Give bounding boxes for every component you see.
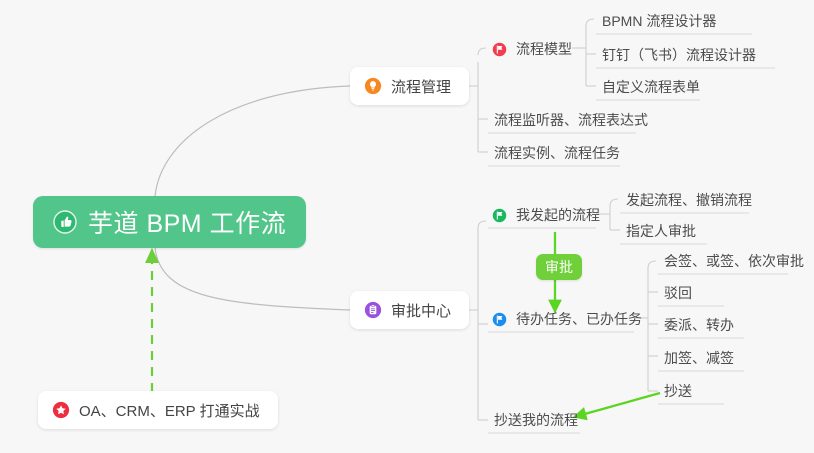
link-mine-top: [610, 199, 618, 206]
node-todo-done-task[interactable]: 待办任务、已办任务: [490, 304, 648, 334]
node-label: 流程实例、流程任务: [494, 143, 620, 163]
node-start-cancel-flow[interactable]: 发起流程、撤销流程: [624, 185, 758, 215]
node-my-cc-flow[interactable]: 抄送我的流程: [492, 405, 584, 435]
star-icon: [52, 401, 70, 419]
node-countersign[interactable]: 会签、或签、依次审批: [662, 246, 810, 276]
link-root-process-management: [155, 86, 350, 197]
branch-process-management[interactable]: 流程管理: [350, 67, 469, 105]
link-pm-to-model: [478, 48, 486, 55]
node-listener-expression[interactable]: 流程监听器、流程表达式: [492, 105, 654, 135]
branch-label: 审批中心: [391, 300, 451, 321]
flag-icon: [492, 312, 507, 327]
node-label: 指定人审批: [626, 221, 696, 241]
node-cc[interactable]: 抄送: [662, 376, 698, 406]
branch-label: 流程管理: [391, 76, 451, 97]
node-assignee-approval[interactable]: 指定人审批: [624, 216, 702, 246]
node-label: 委派、转办: [664, 315, 734, 335]
root-node[interactable]: 芋道 BPM 工作流: [33, 196, 306, 248]
node-label: 抄送: [664, 381, 692, 401]
node-custom-form[interactable]: 自定义流程表单: [600, 72, 706, 102]
thumbs-up-icon: [53, 210, 77, 234]
clipboard-icon: [364, 301, 382, 319]
link-ac-to-mine: [478, 221, 486, 228]
link-root-approval-center: [155, 247, 350, 310]
link-model-top: [586, 19, 594, 26]
node-label: 钉钉（飞书）流程设计器: [602, 45, 756, 65]
node-label: 抄送我的流程: [494, 410, 578, 430]
node-label: 待办任务、已办任务: [516, 309, 642, 329]
node-dingtalk-designer[interactable]: 钉钉（飞书）流程设计器: [600, 40, 762, 70]
node-label: 发起流程、撤销流程: [626, 190, 752, 210]
link-todo-c1: [648, 261, 656, 268]
node-label: 我发起的流程: [516, 205, 600, 225]
node-process-model[interactable]: 流程模型: [490, 34, 578, 64]
mindmap-canvas: 芋道 BPM 工作流 流程管理 审批中心: [0, 0, 814, 453]
node-label: 驳回: [664, 283, 692, 303]
node-label: 流程监听器、流程表达式: [494, 110, 648, 130]
flag-icon: [492, 42, 507, 57]
node-label: BPMN 流程设计器: [602, 11, 716, 31]
node-instance-task[interactable]: 流程实例、流程任务: [492, 138, 626, 168]
node-label: 加签、减签: [664, 348, 734, 368]
node-bpmn-designer[interactable]: BPMN 流程设计器: [600, 6, 722, 36]
flag-icon: [492, 208, 507, 223]
approval-pill: 审批: [536, 254, 582, 280]
node-label: 会签、或签、依次审批: [664, 251, 804, 271]
cc-flow-arrow: [574, 393, 660, 417]
lightbulb-icon: [364, 77, 382, 95]
callout-oa-crm-erp[interactable]: OA、CRM、ERP 打通实战: [38, 391, 278, 429]
approval-pill-label: 审批: [545, 257, 573, 277]
root-label: 芋道 BPM 工作流: [88, 204, 286, 240]
node-label: 流程模型: [516, 39, 572, 59]
node-reject[interactable]: 驳回: [662, 278, 698, 308]
node-label: 自定义流程表单: [602, 77, 700, 97]
node-delegate-transfer[interactable]: 委派、转办: [662, 310, 740, 340]
callout-label: OA、CRM、ERP 打通实战: [79, 400, 260, 421]
branch-approval-center[interactable]: 审批中心: [350, 291, 469, 329]
node-add-remove-sign[interactable]: 加签、减签: [662, 343, 740, 373]
node-my-initiated-flow[interactable]: 我发起的流程: [490, 200, 606, 230]
